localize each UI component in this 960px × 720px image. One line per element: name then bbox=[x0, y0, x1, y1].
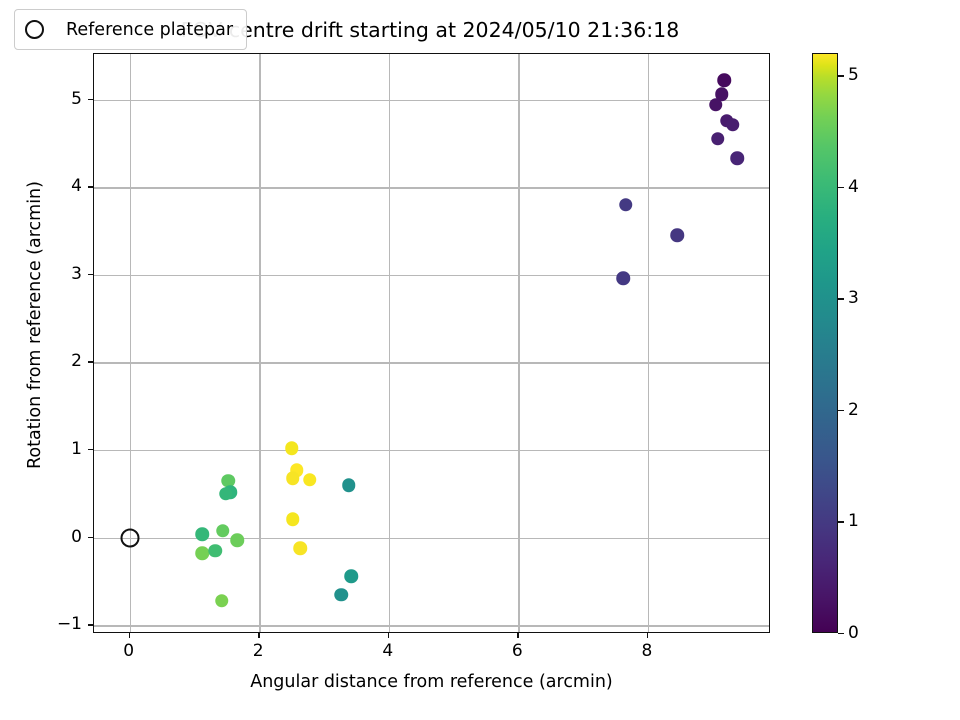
y-tick bbox=[88, 361, 93, 362]
scatter-point bbox=[711, 132, 725, 146]
colorbar-tick-label: 0 bbox=[848, 623, 859, 643]
x-tick-label: 6 bbox=[487, 641, 547, 661]
scatter-point bbox=[293, 541, 307, 555]
scatter-point bbox=[230, 534, 244, 548]
colorbar-tick-label: 5 bbox=[848, 65, 859, 85]
x-tick-label: 4 bbox=[358, 641, 418, 661]
y-tick bbox=[88, 99, 93, 100]
y-tick bbox=[88, 537, 93, 538]
reference-platepar-point bbox=[120, 528, 139, 547]
x-axis-label: Angular distance from reference (arcmin) bbox=[93, 672, 770, 692]
scatter-point bbox=[208, 544, 222, 558]
scatter-point bbox=[670, 229, 684, 243]
figure-canvas: FOV centre drift starting at 2024/05/10 … bbox=[0, 0, 960, 720]
scatter-point bbox=[285, 442, 299, 456]
y-tick bbox=[88, 449, 93, 450]
reference-platepar-marker-icon bbox=[25, 20, 44, 39]
x-tick bbox=[258, 633, 259, 638]
y-tick-label: 5 bbox=[20, 89, 82, 109]
scatter-plot-axes bbox=[93, 53, 770, 633]
scatter-point bbox=[718, 74, 732, 88]
x-tick bbox=[647, 633, 648, 638]
y-tick-label: −1 bbox=[20, 614, 82, 634]
y-tick-label: 1 bbox=[20, 439, 82, 459]
scatter-point bbox=[344, 569, 358, 583]
x-tick-label: 8 bbox=[617, 641, 677, 661]
colorbar-tick-label: 3 bbox=[848, 288, 859, 308]
scatter-point bbox=[726, 118, 740, 132]
y-tick-label: 0 bbox=[20, 527, 82, 547]
x-tick bbox=[388, 633, 389, 638]
scatter-point bbox=[215, 594, 229, 608]
data-points-layer bbox=[94, 54, 769, 632]
scatter-point bbox=[195, 547, 209, 561]
y-tick bbox=[88, 186, 93, 187]
scatter-point bbox=[335, 588, 349, 602]
colorbar-tick bbox=[838, 633, 844, 634]
scatter-point bbox=[219, 487, 233, 501]
colorbar-tick bbox=[838, 75, 844, 76]
legend[interactable]: Reference platepar bbox=[14, 9, 247, 50]
scatter-point bbox=[216, 524, 230, 538]
x-tick-label: 2 bbox=[228, 641, 288, 661]
colorbar-tick bbox=[838, 187, 844, 188]
scatter-point bbox=[731, 152, 745, 166]
x-tick-label: 0 bbox=[99, 641, 159, 661]
y-tick-label: 3 bbox=[20, 264, 82, 284]
scatter-point bbox=[617, 272, 631, 286]
colorbar-tick bbox=[838, 298, 844, 299]
scatter-point bbox=[619, 198, 633, 212]
x-tick bbox=[129, 633, 130, 638]
colorbar-tick bbox=[838, 521, 844, 522]
colorbar-tick-label: 4 bbox=[848, 177, 859, 197]
y-tick bbox=[88, 624, 93, 625]
y-tick bbox=[88, 274, 93, 275]
colorbar: 012345 bbox=[812, 53, 838, 633]
scatter-point bbox=[286, 512, 300, 526]
colorbar-gradient bbox=[812, 53, 838, 633]
scatter-point bbox=[303, 473, 317, 487]
colorbar-tick bbox=[838, 410, 844, 411]
legend-item-label: Reference platepar bbox=[66, 20, 233, 40]
scatter-point bbox=[342, 478, 356, 492]
x-tick bbox=[517, 633, 518, 638]
scatter-point bbox=[195, 527, 209, 541]
colorbar-tick-label: 1 bbox=[848, 511, 859, 531]
y-tick-label: 4 bbox=[20, 176, 82, 196]
scatter-point bbox=[286, 471, 300, 485]
colorbar-tick-label: 2 bbox=[848, 400, 859, 420]
y-tick-label: 2 bbox=[20, 351, 82, 371]
scatter-point bbox=[709, 98, 723, 112]
